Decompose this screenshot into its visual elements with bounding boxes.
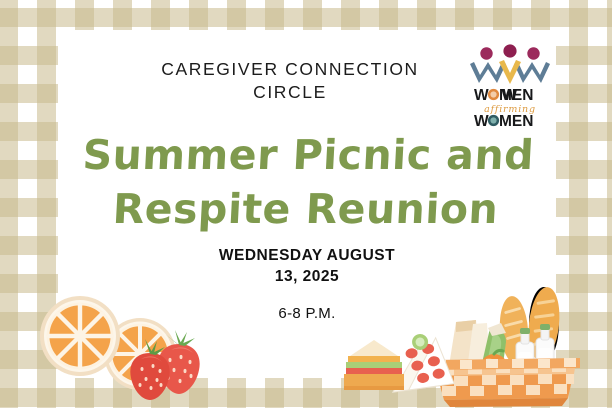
women-affirming-women-logo: W W W MEN affirming W MEN [466, 42, 554, 130]
content-card: CAREGIVER CONNECTION CIRCLE W W W [58, 30, 556, 378]
eyebrow-heading: CAREGIVER CONNECTION CIRCLE [130, 58, 450, 104]
logo-figure-center [499, 60, 521, 84]
date-block: WEDNESDAY AUGUST 13, 2025 6-8 P.M. [137, 245, 477, 324]
svg-text:MEN: MEN [499, 87, 533, 104]
flyer-canvas: CAREGIVER CONNECTION CIRCLE W W W [0, 0, 612, 408]
event-date: WEDNESDAY AUGUST 13, 2025 [137, 245, 477, 287]
logo-head-right [527, 47, 539, 59]
event-title: Summer Picnic and Respite Reunion [55, 128, 559, 236]
logo-head-left [480, 47, 492, 59]
event-time: 6-8 P.M. [137, 304, 477, 324]
svg-text:W: W [474, 87, 489, 104]
logo-head-center [503, 44, 516, 57]
